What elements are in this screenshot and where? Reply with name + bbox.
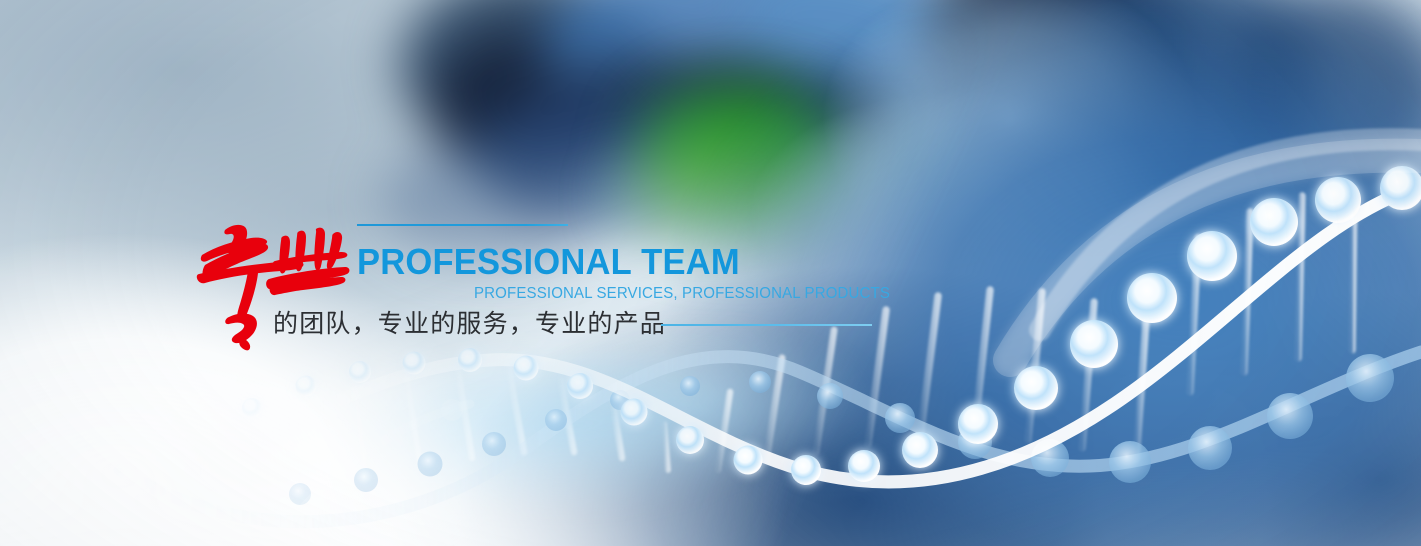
banner-content: PROFESSIONAL TEAM PROFESSIONAL SERVICES,… (0, 0, 1421, 546)
decorative-rule-bottom (661, 324, 872, 326)
page-title: PROFESSIONAL TEAM (357, 244, 740, 280)
chinese-tagline: 的团队，专业的服务，专业的产品 (273, 308, 666, 339)
decorative-rule-top (357, 224, 568, 226)
hero-banner: PROFESSIONAL TEAM PROFESSIONAL SERVICES,… (0, 0, 1421, 546)
page-subtitle: PROFESSIONAL SERVICES, PROFESSIONAL PROD… (474, 286, 890, 302)
